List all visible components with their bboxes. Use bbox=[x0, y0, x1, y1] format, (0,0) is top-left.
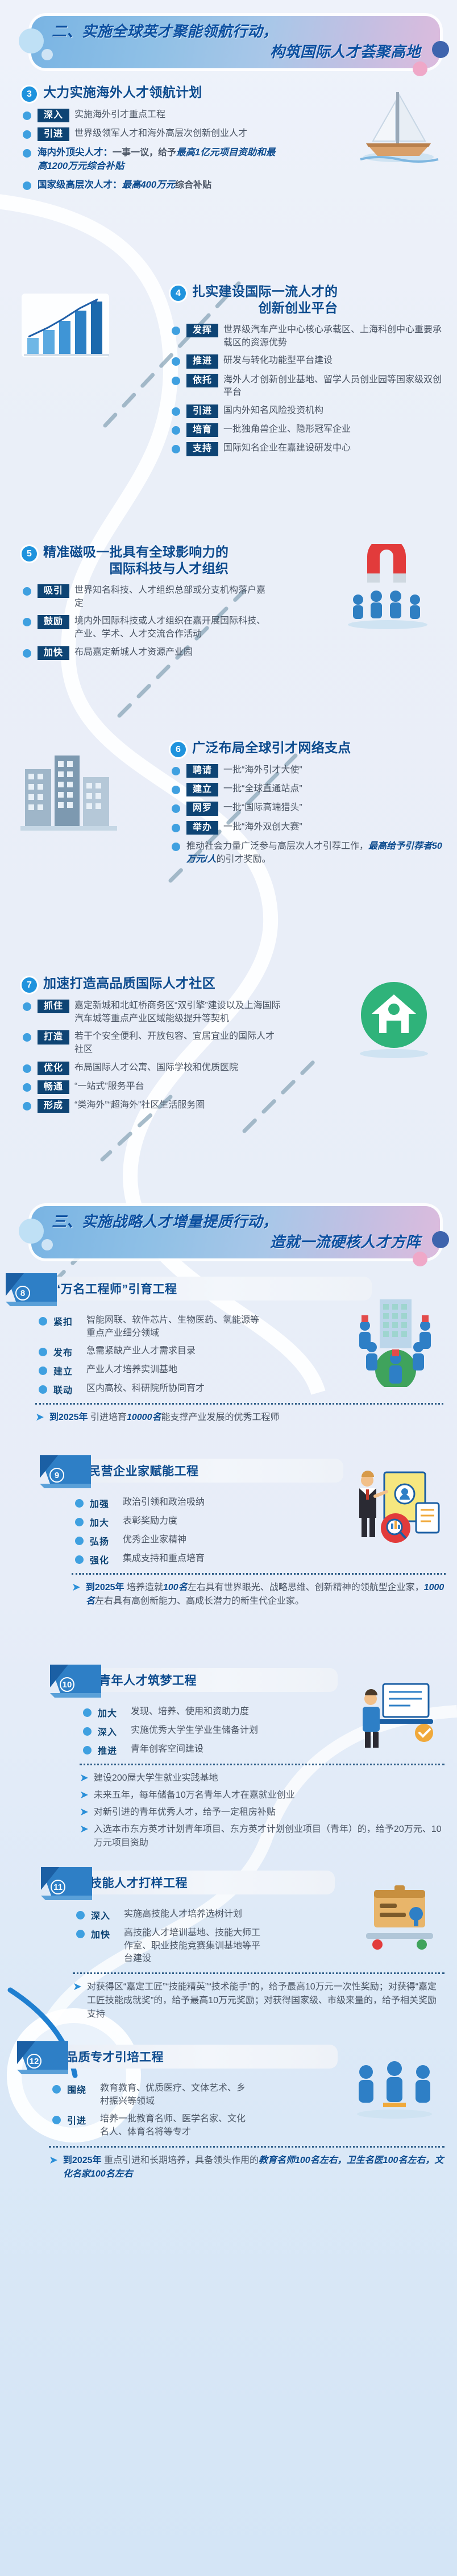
item-10-goal-4: ➤ 入选本市东方英才计划青年项目、东方英才计划创业项目（青年）的，给予20万元、… bbox=[80, 1823, 444, 1850]
item-5-row-2[interactable]: 鼓励 境内外国际科技或人才组织在嘉开展国际科技、产业、学术、人才交流合作活动 bbox=[22, 615, 272, 641]
row-tag: 加快 bbox=[91, 1927, 116, 1941]
row-tag: 支持 bbox=[186, 442, 218, 456]
item-4-title-line2: 创新创业平台 bbox=[192, 300, 338, 316]
row-tag: 加快 bbox=[38, 646, 69, 660]
bullet-dot-icon bbox=[75, 1537, 84, 1545]
ribbon-triangle-shape bbox=[39, 1455, 91, 1488]
row-tag: 加大 bbox=[98, 1706, 123, 1719]
row-text: 一批独角兽企业、隐形冠军企业 bbox=[223, 423, 351, 436]
item-11-ribbon-bar: 技能人才打样工程 bbox=[70, 1871, 335, 1894]
item-7-rows: 抓住 嘉定新城和北虹桥商务区“双引擎”建设以及上海国际汽车城等重点产业区域能级提… bbox=[22, 1000, 283, 1113]
home-location-illustration bbox=[346, 975, 442, 1060]
item-8-goal: ➤ 到2025年 引进培育10000名能支撑产业发展的优秀工程师 bbox=[35, 1411, 443, 1425]
item-12-title: 品质专才引培工程 bbox=[66, 2048, 164, 2065]
bullet-dot-icon bbox=[23, 587, 31, 596]
item-5-row-1[interactable]: 吸引 世界知名科技、人才组织总部或分支机构落户嘉定 bbox=[22, 584, 272, 610]
item-9-separator bbox=[72, 1573, 446, 1575]
row-prefix: 推动社会力量广泛参与高层次人才引荐工作， bbox=[186, 841, 368, 851]
row-text: 产业人才培养实训基地 bbox=[86, 1364, 177, 1377]
row-text: 海外人才创新创业基地、留学人员创业园等国家级双创平台 bbox=[223, 374, 449, 399]
item-9-row-3[interactable]: 弘扬 优秀企业家精神 bbox=[74, 1534, 261, 1547]
item-12-row-2[interactable]: 引进 培养一批教育名师、医学名家、文化名人、体育名将等专才 bbox=[51, 2113, 250, 2139]
arrow-right-icon: ➤ bbox=[49, 2155, 58, 2166]
row-text: 世界知名科技、人才组织总部或分支机构落户嘉定 bbox=[74, 584, 272, 610]
item-4-row-4[interactable]: 引进 国内外知名风险投资机构 bbox=[171, 404, 449, 418]
row-text: 一批“全球直通站点” bbox=[223, 783, 302, 796]
item-8-row-1[interactable]: 紧扣 智能网联、软件芯片、生物医药、氢能源等重点产业细分领域 bbox=[38, 1314, 267, 1340]
item-12-number: 12 bbox=[27, 2054, 41, 2069]
item-5-title-line2: 国际科技与人才组织 bbox=[43, 560, 228, 577]
item-4-title-line1: 扎实建设国际一流人才的 bbox=[192, 284, 338, 299]
goal-text: 对获得区“嘉定工匠”“技能精英”“技术能手”的，给予最高10万元一次性奖励；对获… bbox=[87, 1980, 444, 2021]
row-tag: 吸引 bbox=[38, 584, 69, 598]
row-text: 国际知名企业在嘉建设研发中心 bbox=[223, 442, 351, 455]
row-tag: 深入 bbox=[38, 109, 69, 122]
row-text: 境内外国际科技或人才组织在嘉开展国际科技、产业、学术、人才交流合作活动 bbox=[74, 615, 272, 641]
bullet-dot-icon bbox=[39, 1348, 47, 1356]
bullet-dot-icon bbox=[75, 1499, 84, 1508]
bullet-dot-icon bbox=[76, 1911, 85, 1919]
row-text: 研发与转化功能型平台建设 bbox=[223, 354, 333, 368]
item-12-block: 品质专才引培工程 12 围绕 教育教育、优质医疗、文体艺术、乡村振兴等领域 引进… bbox=[0, 2041, 457, 2189]
item-4-block: 4 扎实建设国际一流人才的 创新创业平台 发挥 世界级汽车产业中心核心承载区、上… bbox=[0, 283, 457, 522]
banner-dot-small bbox=[41, 49, 53, 60]
banner-dot-pink bbox=[413, 1252, 427, 1266]
item-8-title: “万名工程师”引育工程 bbox=[55, 1280, 177, 1297]
goal-text: 入选本市东方英才计划青年项目、东方英才计划创业项目（青年）的，给予20万元、10… bbox=[94, 1823, 444, 1850]
row-suffix: 综合补贴 bbox=[175, 180, 211, 190]
item-4-row-5[interactable]: 培育 一批独角兽企业、隐形冠军企业 bbox=[171, 423, 449, 437]
row-tag: 鼓励 bbox=[38, 615, 69, 629]
bullet-dot-icon bbox=[52, 2085, 61, 2094]
goal-lead: 到2025年 bbox=[49, 1413, 88, 1422]
item-9-row-2[interactable]: 加大 表彰奖励力度 bbox=[74, 1515, 261, 1529]
goal-text: 到2025年 引进培育10000名能支撑产业发展的优秀工程师 bbox=[49, 1411, 280, 1425]
item-9-title: 民营企业家赋能工程 bbox=[89, 1462, 199, 1479]
item-6-number: 6 bbox=[171, 742, 186, 757]
item-7-row-4[interactable]: 畅通 “一站式”服务平台 bbox=[22, 1080, 283, 1094]
item-10-number: 10 bbox=[60, 1677, 74, 1692]
section-banner-two: 二、实施全球英才聚能领航行动， 构筑国际人才荟聚高地 bbox=[31, 16, 440, 68]
bullet-dot-icon bbox=[23, 1083, 31, 1092]
row-text: 一批“海外双创大赛” bbox=[223, 821, 302, 834]
bullet-dot-icon bbox=[172, 407, 180, 416]
row-text: 集成支持和重点培育 bbox=[123, 1553, 205, 1566]
row-text: 培养一批教育名师、医学名家、文化名人、体育名将等专才 bbox=[100, 2113, 250, 2139]
arrow-right-icon: ➤ bbox=[80, 1824, 89, 1835]
item-8-separator bbox=[35, 1403, 443, 1405]
bullet-dot-icon bbox=[83, 1727, 92, 1736]
row-tag: 建立 bbox=[53, 1364, 78, 1377]
item-11-row-1[interactable]: 深入 实施高技能人才培养选树计划 bbox=[75, 1908, 263, 1922]
item-8-ribbon-bar: “万名工程师”引育工程 bbox=[35, 1277, 372, 1301]
item-4-heading: 4 扎实建设国际一流人才的 创新创业平台 bbox=[171, 283, 449, 317]
item-9-number: 9 bbox=[49, 1468, 64, 1483]
presenter-board-illustration bbox=[355, 1469, 446, 1549]
row-composite: 国家级高层次人才：最高400万元综合补贴 bbox=[38, 179, 211, 192]
bullet-dot-icon bbox=[23, 1102, 31, 1111]
item-5-title: 精准磁吸一批具有全球影响力的 国际科技与人才组织 bbox=[43, 544, 228, 577]
item-4-row-2[interactable]: 推进 研发与转化功能型平台建设 bbox=[171, 354, 449, 368]
goal-after: 能支撑产业发展的优秀工程师 bbox=[161, 1413, 279, 1422]
bullet-dot-icon bbox=[172, 824, 180, 832]
row-tag: 深入 bbox=[98, 1724, 123, 1738]
row-text: 智能网联、软件芯片、生物医药、氢能源等重点产业细分领域 bbox=[86, 1314, 267, 1340]
banner-dot-pink bbox=[413, 61, 427, 76]
item-6-row-5[interactable]: 推动社会力量广泛参与高层次人才引荐工作，最高给予引荐者50万元/人的引才奖励。 bbox=[171, 840, 449, 866]
item-6-row-4[interactable]: 举办 一批“海外双创大赛” bbox=[171, 821, 449, 835]
item-3-row-2[interactable]: 引进 世界级领军人才和海外高层次创新创业人才 bbox=[22, 127, 260, 141]
goal-before: 重点引进和长期培养，具备领头作用的 bbox=[102, 2156, 259, 2165]
ribbon-triangle-shape bbox=[49, 1665, 101, 1698]
item-6-rows: 聘请 一批“海外引才大使” 建立 一批“全球直通站点” 网罗 一批“国际高端猎头… bbox=[171, 764, 449, 866]
bullet-dot-icon bbox=[76, 1930, 85, 1938]
row-tag: 联动 bbox=[53, 1382, 78, 1396]
goal-text: 到2025年 培养造就100名左右具有世界眼光、战略思维、创新精神的领航型企业家… bbox=[86, 1581, 446, 1608]
arrow-right-icon: ➤ bbox=[72, 1582, 81, 1593]
row-text: 若干个安全便利、开放包容、宜居宜业的国际人才社区 bbox=[74, 1030, 283, 1056]
item-6-heading: 6 广泛布局全球引才网络支点 bbox=[171, 740, 449, 757]
item-10-goal-2: ➤ 未来五年，每年储备10万名青年人才在嘉就业创业 bbox=[80, 1789, 444, 1802]
item-7-row-3[interactable]: 优化 布局国际人才公寓、国际学校和优质医院 bbox=[22, 1062, 283, 1075]
row-text: 急需紧缺产业人才需求目录 bbox=[86, 1345, 196, 1358]
item-10-rows: 加大 发现、培养、使用和资助力度 深入 实施优秀大学生学业生储备计划 推进 青年… bbox=[44, 1706, 260, 1757]
row-tag: 加强 bbox=[90, 1496, 115, 1510]
item-5-row-3[interactable]: 加快 布局嘉定新城人才资源产业园 bbox=[22, 646, 272, 660]
row-text: 世界级领军人才和海外高层次创新创业人才 bbox=[74, 127, 247, 141]
bullet-dot-icon bbox=[172, 804, 180, 813]
row-tag: 推进 bbox=[98, 1743, 123, 1757]
goal-text: 到2025年 重点引进和长期培养，具备领头作用的教育名师100名左右，卫生名医1… bbox=[63, 2154, 444, 2181]
row-tag: 聘请 bbox=[186, 764, 218, 778]
arrow-right-icon: ➤ bbox=[80, 1790, 89, 1801]
item-6-block: 6 广泛布局全球引才网络支点 聘请 一批“海外引才大使” 建立 一批“全球直通站… bbox=[0, 740, 457, 950]
row-tag: 优化 bbox=[38, 1062, 69, 1075]
city-buildings-illustration bbox=[16, 740, 124, 836]
goal-before: 引进培育 bbox=[88, 1413, 127, 1422]
item-5-block: 5 精准磁吸一批具有全球影响力的 国际科技与人才组织 吸引 世界知名科技、人才组… bbox=[0, 544, 457, 715]
bullet-dot-icon bbox=[172, 445, 180, 453]
item-3-number: 3 bbox=[22, 86, 37, 102]
row-tag: 举办 bbox=[186, 821, 218, 835]
goal-text: 未来五年，每年储备10万名青年人才在嘉就业创业 bbox=[94, 1789, 295, 1802]
row-emphasis: 最高400万元 bbox=[122, 180, 176, 190]
bullet-dot-icon bbox=[23, 618, 31, 626]
arrow-right-icon: ➤ bbox=[73, 1981, 82, 1992]
goal-emphasis: 10000名 bbox=[127, 1413, 161, 1422]
banner-dot-large bbox=[19, 1219, 44, 1244]
goal-before: 培养造就 bbox=[124, 1583, 163, 1592]
item-11-number: 11 bbox=[51, 1880, 65, 1894]
item-8-block: “万名工程师”引育工程 8 bbox=[0, 1273, 457, 1438]
item-7-row-1[interactable]: 抓住 嘉定新城和北虹桥商务区“双引擎”建设以及上海国际汽车城等重点产业区域能级提… bbox=[22, 1000, 283, 1025]
row-tag: 弘扬 bbox=[90, 1534, 115, 1547]
item-10-title: 青年人才筑梦工程 bbox=[99, 1671, 197, 1689]
bullet-dot-icon bbox=[172, 327, 180, 335]
item-10-row-2[interactable]: 深入 实施优秀大学生学业生储备计划 bbox=[82, 1724, 260, 1738]
item-4-row-1[interactable]: 发挥 世界级汽车产业中心核心承载区、上海科创中心重要承载区的资源优势 bbox=[171, 324, 449, 349]
item-3-row-1[interactable]: 深入 实施海外引才重点工程 bbox=[22, 109, 260, 122]
item-10-separator bbox=[80, 1764, 444, 1765]
row-prefix: 海内外顶尖人才： bbox=[38, 147, 113, 158]
item-11-title: 技能人才打样工程 bbox=[90, 1874, 188, 1891]
bullet-dot-icon bbox=[172, 843, 180, 851]
ribbon-triangle-shape bbox=[5, 1273, 57, 1306]
row-text: 一事一议，给予 bbox=[113, 148, 176, 158]
bullet-dot-icon bbox=[23, 1002, 31, 1011]
row-text: 世界级汽车产业中心核心承载区、上海科创中心重要承载区的资源优势 bbox=[223, 324, 449, 349]
item-12-ribbon-bar: 品质专才引培工程 bbox=[47, 2045, 338, 2069]
item-11-row-2[interactable]: 加快 高技能人才培训基地、技能大师工作室、职业技能竞赛集训基地等平台建设 bbox=[75, 1927, 263, 1966]
row-tag: 引进 bbox=[38, 127, 69, 141]
bullet-dot-icon bbox=[23, 112, 31, 120]
row-text: 布局国际人才公寓、国际学校和优质医院 bbox=[74, 1062, 238, 1075]
goal-emphasis: 100名 bbox=[163, 1583, 188, 1592]
row-text: 高技能人才培训基地、技能大师工作室、职业技能竞赛集训基地等平台建设 bbox=[124, 1927, 263, 1966]
row-composite: 海内外顶尖人才：一事一议，给予最高1亿元项目资助和最高1200万元综合补贴 bbox=[38, 146, 277, 174]
banner-dot-small bbox=[41, 1239, 53, 1250]
row-text: “类海外”“超海外”社区生活服务圈 bbox=[74, 1099, 205, 1112]
item-12-rows: 围绕 教育教育、优质医疗、文体艺术、乡村振兴等领域 引进 培养一批教育名师、医学… bbox=[11, 2082, 250, 2139]
item-4-rows: 发挥 世界级汽车产业中心核心承载区、上海科创中心重要承载区的资源优势 推进 研发… bbox=[171, 324, 449, 456]
section-banner-three: 三、实施战略人才增量提质行动， 造就一流硬核人才方阵 bbox=[31, 1206, 440, 1258]
bullet-dot-icon bbox=[75, 1555, 84, 1564]
item-5-number: 5 bbox=[22, 546, 37, 562]
skills-tools-illustration bbox=[357, 1881, 442, 1955]
bullet-dot-icon bbox=[172, 426, 180, 435]
bullet-dot-icon bbox=[39, 1385, 47, 1394]
row-tag: 引进 bbox=[186, 404, 218, 418]
bullet-dot-icon bbox=[172, 786, 180, 794]
row-text: 布局嘉定新城人才资源产业园 bbox=[74, 646, 193, 659]
row-text: 一批“海外引才大使” bbox=[223, 764, 302, 777]
item-9-ribbon-bar: 民营企业家赋能工程 bbox=[69, 1459, 343, 1483]
item-11-rows: 深入 实施高技能人才培养选树计划 加快 高技能人才培训基地、技能大师工作室、职业… bbox=[35, 1908, 263, 1966]
bullet-dot-icon bbox=[23, 649, 31, 658]
bullet-dot-icon bbox=[39, 1367, 47, 1375]
goal-text: 建设200屋大学生就业实践基地 bbox=[94, 1772, 218, 1785]
item-11-separator bbox=[73, 1972, 444, 1974]
item-10-goal-1: ➤ 建设200屋大学生就业实践基地 bbox=[80, 1772, 444, 1785]
bullet-dot-icon bbox=[23, 130, 31, 139]
item-10-block: 青年人才筑梦工程 10 加大 发现、培养、使用和资助力度 深入 实施优秀大学生学… bbox=[0, 1665, 457, 1852]
row-text: 青年创客空间建设 bbox=[131, 1743, 203, 1756]
row-tag: 深入 bbox=[91, 1908, 116, 1922]
team-building-illustration bbox=[350, 1290, 441, 1387]
item-7-row-2[interactable]: 打造 若干个安全便利、开放包容、宜居宜业的国际人才社区 bbox=[22, 1030, 283, 1056]
bullet-dot-icon bbox=[23, 1064, 31, 1073]
item-10-row-1[interactable]: 加大 发现、培养、使用和资助力度 bbox=[82, 1706, 260, 1719]
row-text: 实施海外引才重点工程 bbox=[74, 109, 165, 122]
goal-mid: 左右具有世界眼光、战略思维、创新精神的领航型企业家， bbox=[188, 1583, 424, 1592]
row-tag: 推进 bbox=[186, 354, 218, 368]
row-tag: 紧扣 bbox=[53, 1314, 78, 1328]
item-7-row-5[interactable]: 形成 “类海外”“超海外”社区生活服务圈 bbox=[22, 1099, 283, 1113]
row-text: 表彰奖励力度 bbox=[123, 1515, 177, 1528]
item-8-number: 8 bbox=[15, 1286, 30, 1301]
arrow-right-icon: ➤ bbox=[80, 1773, 89, 1784]
bullet-dot-icon bbox=[75, 1518, 84, 1526]
item-9-block: 民营企业家赋能工程 9 加强 政治引领和政治 bbox=[0, 1455, 457, 1649]
item-5-heading: 5 精准磁吸一批具有全球影响力的 国际科技与人才组织 bbox=[22, 544, 289, 577]
banner-dot-right bbox=[432, 41, 449, 58]
item-6-title: 广泛布局全球引才网络支点 bbox=[192, 740, 351, 756]
item-12-row-1[interactable]: 围绕 教育教育、优质医疗、文体艺术、乡村振兴等领域 bbox=[51, 2082, 250, 2108]
row-text: “一站式”服务平台 bbox=[74, 1080, 144, 1093]
goal-after: 左右具有高创新能力、高成长潜力的新生代企业家。 bbox=[95, 1596, 304, 1606]
item-9-rows: 加强 政治引领和政治吸纳 加大 表彰奖励力度 弘扬 优秀企业家精神 强化 集成支… bbox=[34, 1496, 261, 1566]
item-5-rows: 吸引 世界知名科技、人才组织总部或分支机构落户嘉定 鼓励 境内外国际科技或人才组… bbox=[22, 584, 272, 660]
row-text: 一批“国际高端猎头” bbox=[223, 802, 302, 815]
row-tag: 发布 bbox=[53, 1345, 78, 1359]
row-prefix: 国家级高层次人才： bbox=[38, 180, 122, 190]
item-11-block: 技能人才打样工程 11 深入 实施高技能人才培养选树计划 加快 高技能人才培训基… bbox=[0, 1867, 457, 2026]
bullet-dot-icon bbox=[172, 357, 180, 366]
item-6-row-2[interactable]: 建立 一批“全球直通站点” bbox=[171, 783, 449, 796]
bullet-dot-icon bbox=[172, 377, 180, 385]
item-12-goal: ➤ 到2025年 重点引进和长期培养，具备领头作用的教育名师100名左右，卫生名… bbox=[49, 2154, 444, 2181]
row-tag: 网罗 bbox=[186, 802, 218, 815]
row-composite: 推动社会力量广泛参与高层次人才引荐工作，最高给予引荐者50万元/人的引才奖励。 bbox=[186, 840, 449, 866]
row-tag: 加大 bbox=[90, 1515, 115, 1529]
row-tag: 依托 bbox=[186, 374, 218, 387]
item-7-number: 7 bbox=[22, 977, 37, 993]
bullet-dot-icon bbox=[39, 1317, 47, 1326]
item-10-row-3[interactable]: 推进 青年创客空间建设 bbox=[82, 1743, 260, 1757]
item-10-ribbon-bar: 青年人才筑梦工程 bbox=[80, 1668, 338, 1692]
item-4-row-3[interactable]: 依托 海外人才创新创业基地、留学人员创业园等国家级双创平台 bbox=[171, 374, 449, 399]
row-tag: 畅通 bbox=[38, 1080, 69, 1094]
item-3-row-3[interactable]: 海内外顶尖人才：一事一议，给予最高1亿元项目资助和最高1200万元综合补贴 bbox=[22, 146, 277, 174]
row-text: 发现、培养、使用和资助力度 bbox=[131, 1706, 249, 1719]
item-12-separator bbox=[49, 2146, 444, 2148]
banner-title-line2: 构筑国际人才荟聚高地 bbox=[52, 42, 421, 63]
row-tag: 形成 bbox=[38, 1099, 69, 1113]
goal-text: 对新引进的青年优秀人才，给予一定租房补贴 bbox=[94, 1806, 276, 1819]
row-tag: 强化 bbox=[90, 1553, 115, 1566]
bullet-dot-icon bbox=[23, 181, 31, 190]
row-tag: 抓住 bbox=[38, 1000, 69, 1013]
item-9-row-1[interactable]: 加强 政治引领和政治吸纳 bbox=[74, 1496, 261, 1510]
item-7-title: 加速打造高品质国际人才社区 bbox=[43, 975, 215, 992]
bullet-dot-icon bbox=[23, 1033, 31, 1042]
item-6-row-3[interactable]: 网罗 一批“国际高端猎头” bbox=[171, 802, 449, 815]
row-suffix: 的引才奖励。 bbox=[216, 854, 271, 864]
item-9-goal: ➤ 到2025年 培养造就100名左右具有世界眼光、战略思维、创新精神的领航型企… bbox=[72, 1581, 446, 1608]
growth-chart-illustration bbox=[15, 283, 117, 369]
item-8-rows: 紧扣 智能网联、软件芯片、生物医药、氢能源等重点产业细分领域 发布 急需紧缺产业… bbox=[0, 1314, 267, 1396]
item-3-title: 大力实施海外人才领航计划 bbox=[43, 84, 202, 101]
banner-title-line2: 造就一流硬核人才方阵 bbox=[52, 1232, 421, 1253]
row-text: 优秀企业家精神 bbox=[123, 1534, 186, 1547]
row-text: 国内外知名风险投资机构 bbox=[223, 404, 323, 418]
item-7-block: 7 加速打造高品质国际人才社区 抓住 嘉定新城和北虹桥商务区“双引擎”建设以及上… bbox=[0, 975, 457, 1180]
banner-dot-right bbox=[432, 1231, 449, 1248]
arrow-right-icon: ➤ bbox=[80, 1807, 89, 1818]
bullet-dot-icon bbox=[23, 149, 31, 158]
banner-title-line1: 二、实施全球英才聚能领航行动， bbox=[52, 22, 421, 42]
item-8-row-4[interactable]: 联动 区内高校、科研院所协同育才 bbox=[38, 1382, 267, 1396]
bullet-dot-icon bbox=[172, 767, 180, 775]
item-6-row-1[interactable]: 聘请 一批“海外引才大使” bbox=[171, 764, 449, 778]
row-tag: 建立 bbox=[186, 783, 218, 796]
row-text: 教育教育、优质医疗、文体艺术、乡村振兴等领域 bbox=[100, 2082, 250, 2108]
item-3-row-4[interactable]: 国家级高层次人才：最高400万元综合补贴 bbox=[22, 179, 277, 192]
goal-lead: 到2025年 bbox=[86, 1583, 124, 1592]
goal-lead: 到2025年 bbox=[63, 2156, 102, 2165]
row-tag: 围绕 bbox=[67, 2082, 92, 2096]
row-tag: 引进 bbox=[67, 2113, 92, 2127]
row-text: 区内高校、科研院所协同育才 bbox=[86, 1382, 205, 1396]
row-text: 政治引领和政治吸纳 bbox=[123, 1496, 205, 1509]
item-4-number: 4 bbox=[171, 286, 186, 301]
bullet-dot-icon bbox=[83, 1708, 92, 1717]
row-tag: 发挥 bbox=[186, 324, 218, 337]
row-tag: 培育 bbox=[186, 423, 218, 437]
item-10-goal-3: ➤ 对新引进的青年优秀人才，给予一定租房补贴 bbox=[80, 1806, 444, 1819]
item-4-title: 扎实建设国际一流人才的 创新创业平台 bbox=[192, 283, 338, 317]
page-bottom-spacer bbox=[0, 2189, 457, 2212]
youth-laptop-illustration bbox=[358, 1678, 443, 1752]
item-3-block: 3 大力实施海外人才领航计划 深入 实施海外引才重点工程 引进 世界级领军人才和… bbox=[0, 84, 457, 255]
item-5-title-line1: 精准磁吸一批具有全球影响力的 bbox=[43, 544, 228, 559]
banner-title-line1: 三、实施战略人才增量提质行动， bbox=[52, 1212, 421, 1232]
magnet-people-illustration bbox=[338, 544, 440, 635]
item-9-row-4[interactable]: 强化 集成支持和重点培育 bbox=[74, 1553, 261, 1566]
item-8-row-3[interactable]: 建立 产业人才培养实训基地 bbox=[38, 1364, 267, 1377]
ribbon-triangle-shape bbox=[40, 1867, 92, 1900]
row-text: 实施优秀大学生学业生储备计划 bbox=[131, 1724, 258, 1737]
item-11-goal: ➤ 对获得区“嘉定工匠”“技能精英”“技术能手”的，给予最高10万元一次性奖励；… bbox=[73, 1980, 444, 2021]
row-text: 实施高技能人才培养选树计划 bbox=[124, 1908, 242, 1921]
row-text: 嘉定新城和北虹桥商务区“双引擎”建设以及上海国际汽车城等重点产业区域能级提升等契… bbox=[74, 1000, 283, 1025]
bullet-dot-icon bbox=[83, 1746, 92, 1755]
row-tag: 打造 bbox=[38, 1030, 69, 1044]
professionals-illustration bbox=[349, 2054, 440, 2122]
banner-dot-large bbox=[19, 28, 44, 53]
ribbon-triangle-shape bbox=[16, 2041, 68, 2074]
arrow-right-icon: ➤ bbox=[35, 1412, 44, 1423]
bullet-dot-icon bbox=[52, 2116, 61, 2124]
item-4-row-6[interactable]: 支持 国际知名企业在嘉建设研发中心 bbox=[171, 442, 449, 456]
item-8-row-2[interactable]: 发布 急需紧缺产业人才需求目录 bbox=[38, 1345, 267, 1359]
sailboat-illustration bbox=[356, 84, 441, 170]
